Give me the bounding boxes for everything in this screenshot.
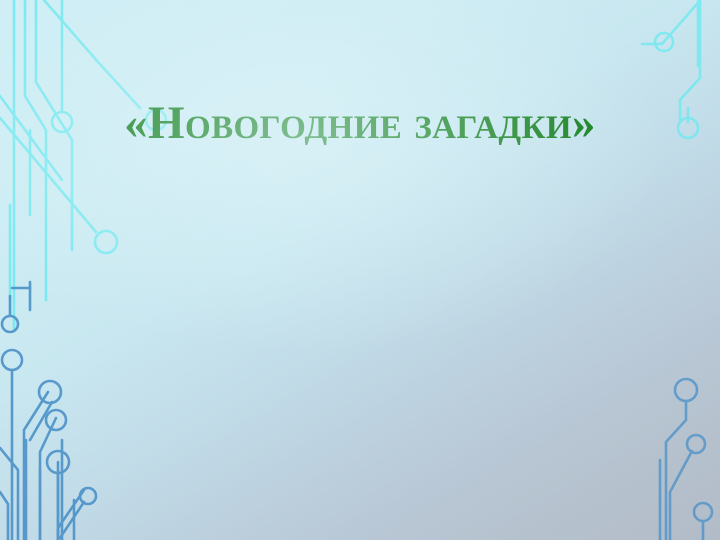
circuit-trace: [0, 492, 8, 540]
circuit-node: [47, 451, 69, 473]
circuit-trace: [0, 96, 62, 180]
circuit-trace: [642, 4, 697, 44]
circuit-trace: [44, 0, 140, 108]
circuit-node: [675, 379, 697, 401]
circuit-trace: [40, 418, 56, 540]
circuit-node: [655, 33, 673, 51]
title-container: «Новогодние загадки»: [0, 0, 720, 540]
circuit-trace: [666, 401, 686, 540]
circuit-decoration-bottom-right: [0, 0, 720, 540]
circuit-node: [46, 410, 66, 430]
circuit-node: [52, 112, 72, 132]
circuit-node: [2, 350, 22, 370]
circuit-node: [694, 503, 712, 521]
circuit-trace: [0, 118, 96, 232]
circuit-trace: [36, 0, 72, 250]
circuit-trace: [670, 451, 692, 540]
circuit-decoration-top-right: [0, 0, 720, 540]
circuit-node: [687, 435, 705, 453]
circuit-trace: [24, 392, 48, 540]
circuit-node: [95, 231, 117, 253]
page-title: «Новогодние загадки»: [124, 99, 596, 148]
circuit-node: [39, 381, 61, 403]
slide-canvas: «Новогодние загадки»: [0, 0, 720, 540]
circuit-trace: [58, 490, 84, 540]
circuit-trace: [30, 402, 52, 440]
circuit-node: [678, 118, 698, 138]
circuit-decoration-top-left: [0, 0, 720, 540]
circuit-trace: [25, 0, 46, 300]
circuit-trace: [60, 502, 84, 538]
circuit-node: [2, 316, 18, 332]
circuit-decoration-bottom-left: [0, 0, 720, 540]
circuit-trace: [0, 448, 18, 540]
circuit-node: [80, 488, 96, 504]
circuit-trace: [680, 0, 700, 120]
